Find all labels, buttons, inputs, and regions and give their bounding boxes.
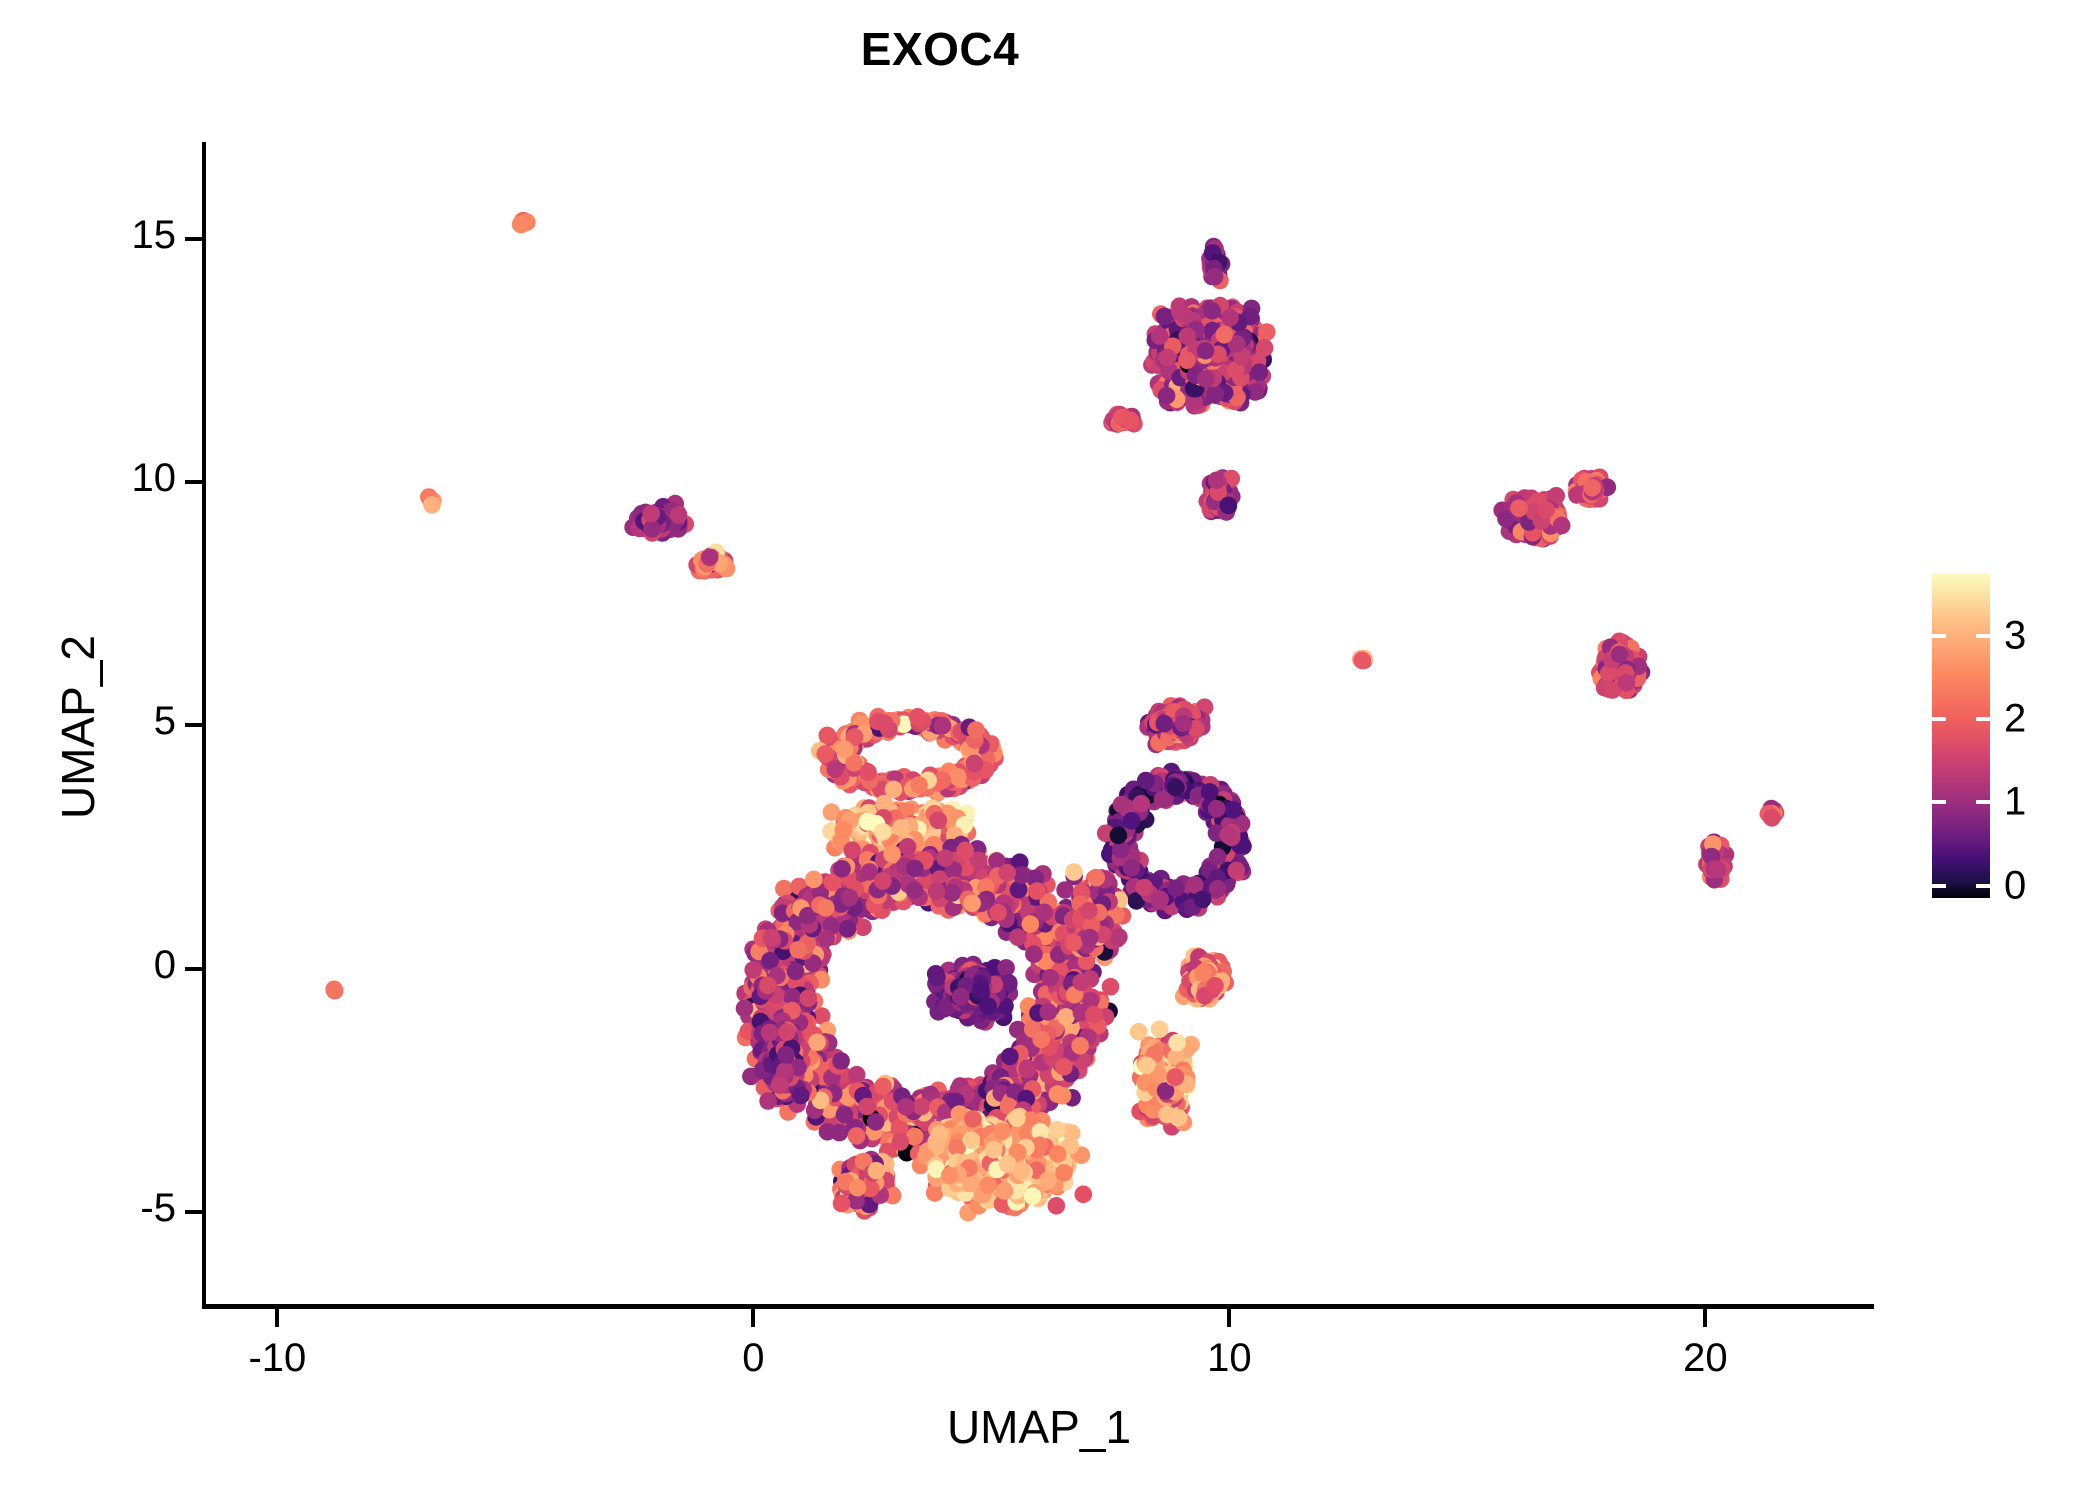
legend-tick-mark (1976, 717, 1990, 721)
y-tick-mark (185, 480, 203, 484)
legend-tick-mark (1932, 800, 1946, 804)
y-axis-title: UMAP_2 (51, 377, 105, 1077)
x-axis-title: UMAP_1 (206, 1400, 1872, 1454)
y-tick-mark (185, 237, 203, 241)
y-tick-mark (185, 967, 203, 971)
page-title: EXOC4 (0, 22, 1880, 76)
x-tick-label: 0 (742, 1336, 764, 1381)
legend-tick-label: 1 (2004, 780, 2026, 825)
x-tick-label: 10 (1207, 1336, 1252, 1381)
y-tick-label: 15 (0, 213, 176, 258)
x-tick-mark (751, 1308, 755, 1327)
color-legend: 0123 (1932, 573, 2082, 903)
y-tick-mark (185, 1210, 203, 1214)
scatter-points-layer (206, 142, 1872, 1304)
legend-tick-mark (1976, 634, 1990, 638)
legend-tick-mark (1976, 884, 1990, 888)
legend-tick-label: 0 (2004, 863, 2026, 908)
umap-feature-plot: EXOC4 -5051015 -1001020 UMAP_1 UMAP_2 01… (0, 0, 2100, 1500)
x-tick-mark (275, 1308, 279, 1327)
legend-tick-label: 3 (2004, 613, 2026, 658)
plot-panel (206, 142, 1872, 1304)
y-tick-label: -5 (0, 1186, 176, 1231)
x-tick-label: -10 (248, 1336, 306, 1381)
legend-tick-mark (1932, 884, 1946, 888)
x-axis-line (202, 1304, 1874, 1309)
y-tick-mark (185, 723, 203, 727)
x-tick-mark (1703, 1308, 1707, 1327)
legend-colorbar (1932, 573, 1990, 898)
x-tick-mark (1227, 1308, 1231, 1327)
x-tick-label: 20 (1683, 1336, 1728, 1381)
legend-tick-mark (1932, 717, 1946, 721)
legend-tick-mark (1976, 800, 1990, 804)
legend-tick-mark (1932, 634, 1946, 638)
legend-tick-label: 2 (2004, 696, 2026, 741)
